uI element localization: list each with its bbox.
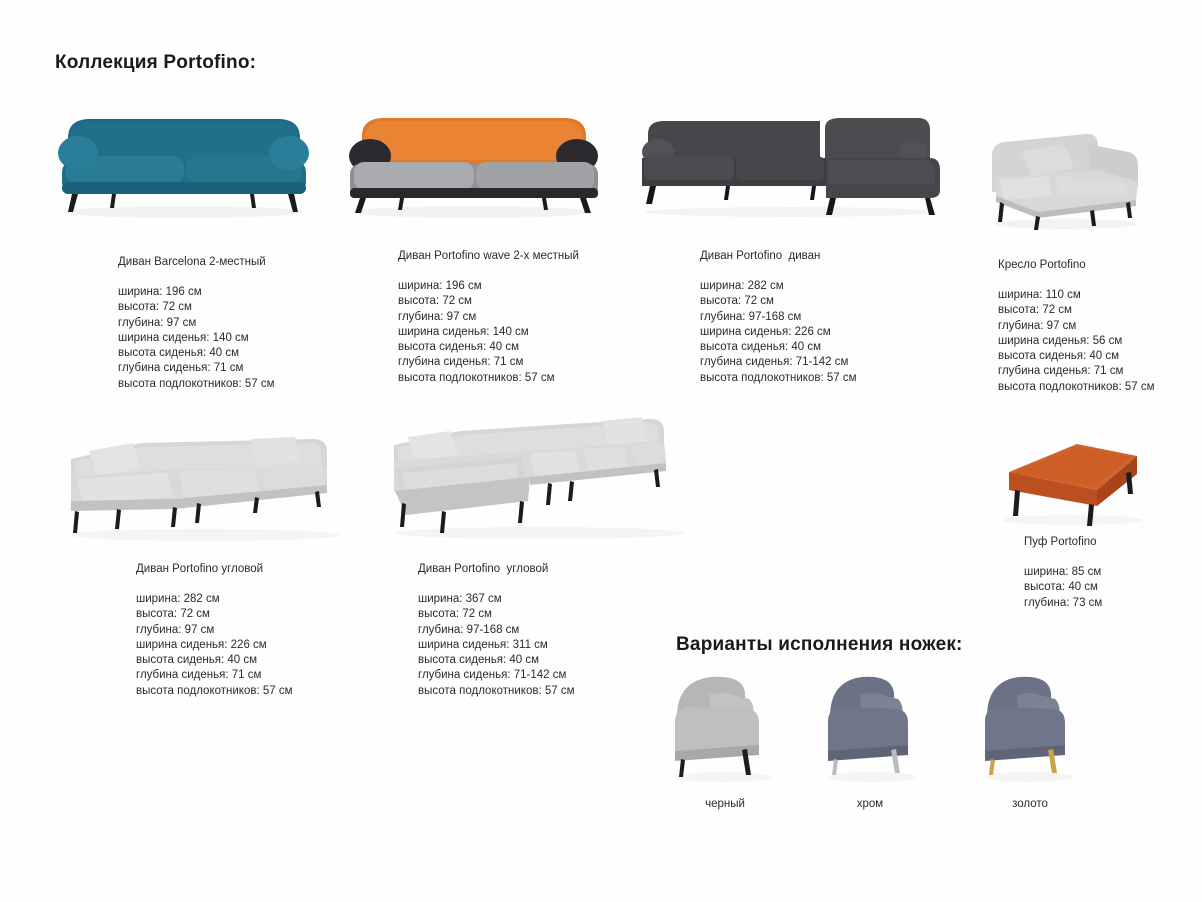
spec-item: высота сиденья: 40 см <box>136 653 416 668</box>
spec-item: глубина: 97 см <box>998 319 1198 334</box>
spec-item: высота: 72 см <box>136 607 416 622</box>
spec-item: глубина сиденья: 71-142 см <box>418 668 698 683</box>
spec-item: высота подлокотников: 57 см <box>118 377 393 392</box>
product-name: Диван Portofino угловой <box>136 562 416 576</box>
product-image-portofino-pouf <box>985 428 1160 528</box>
catalog-page: Коллекция Portofino: Диван Barcelona 2-м… <box>0 0 1202 902</box>
product-name: Диван Portofino угловой <box>418 562 698 576</box>
spec-item: глубина сиденья: 71 см <box>398 355 688 370</box>
spec-item: высота подлокотников: 57 см <box>998 380 1198 395</box>
product-image-portofino-divan <box>630 112 950 222</box>
legs-section-title: Варианты исполнения ножек: <box>676 634 963 656</box>
spec-item: глубина: 73 см <box>1024 596 1199 611</box>
spec-item: высота: 72 см <box>398 294 688 309</box>
product-block-portofino-pouf: Пуф Portofino ширина: 85 см высота: 40 с… <box>1024 535 1199 611</box>
spec-item: ширина: 196 см <box>398 279 688 294</box>
product-image-barcelona-2 <box>48 108 318 220</box>
spec-item: высота: 72 см <box>700 294 960 309</box>
product-image-portofino-wave-2 <box>338 108 608 220</box>
spec-item: высота: 72 см <box>418 607 698 622</box>
spec-list: ширина: 196 см высота: 72 см глубина: 97… <box>118 285 393 392</box>
spec-item: ширина: 85 см <box>1024 565 1199 580</box>
spec-item: высота сиденья: 40 см <box>398 340 688 355</box>
spec-item: ширина: 110 см <box>998 288 1198 303</box>
product-block-barcelona-2: Диван Barcelona 2-местный ширина: 196 см… <box>118 255 393 392</box>
spec-list: ширина: 367 см высота: 72 см глубина: 97… <box>418 592 698 699</box>
product-name: Диван Barcelona 2-местный <box>118 255 393 269</box>
spec-item: глубина сиденья: 71-142 см <box>700 355 960 370</box>
spec-list: ширина: 85 см высота: 40 см глубина: 73 … <box>1024 565 1199 611</box>
spec-item: глубина: 97 см <box>118 316 393 331</box>
product-block-portofino-divan: Диван Portofino диван ширина: 282 см выс… <box>700 249 960 386</box>
spec-item: ширина сиденья: 56 см <box>998 334 1198 349</box>
spec-item: глубина сиденья: 71 см <box>136 668 416 683</box>
spec-list: ширина: 196 см высота: 72 см глубина: 97… <box>398 279 688 386</box>
spec-item: глубина: 97-168 см <box>418 623 698 638</box>
product-block-portofino-armchair: Кресло Portofino ширина: 110 см высота: … <box>998 258 1198 395</box>
leg-variant-label-chrome: хром <box>810 798 930 810</box>
leg-variant-label-black: черный <box>665 798 785 810</box>
spec-item: глубина: 97-168 см <box>700 310 960 325</box>
product-image-portofino-corner-367 <box>380 405 700 545</box>
leg-variant-chrome <box>818 665 928 790</box>
spec-item: высота подлокотников: 57 см <box>418 684 698 699</box>
spec-list: ширина: 282 см высота: 72 см глубина: 97… <box>136 592 416 699</box>
spec-item: высота сиденья: 40 см <box>700 340 960 355</box>
spec-item: ширина: 282 см <box>136 592 416 607</box>
spec-item: ширина сиденья: 311 см <box>418 638 698 653</box>
spec-item: ширина сиденья: 226 см <box>700 325 960 340</box>
spec-item: высота сиденья: 40 см <box>118 346 393 361</box>
spec-item: ширина сиденья: 226 см <box>136 638 416 653</box>
product-image-portofino-armchair <box>978 122 1153 234</box>
product-image-portofino-corner-282 <box>55 415 355 545</box>
product-block-portofino-wave-2: Диван Portofino wave 2-х местный ширина:… <box>398 249 688 386</box>
spec-item: высота: 40 см <box>1024 580 1199 595</box>
spec-item: высота сиденья: 40 см <box>418 653 698 668</box>
spec-item: высота подлокотников: 57 см <box>136 684 416 699</box>
spec-item: глубина сиденья: 71 см <box>998 364 1198 379</box>
spec-item: ширина: 282 см <box>700 279 960 294</box>
spec-item: глубина: 97 см <box>398 310 688 325</box>
spec-item: ширина: 196 см <box>118 285 393 300</box>
spec-item: ширина сиденья: 140 см <box>398 325 688 340</box>
spec-list: ширина: 110 см высота: 72 см глубина: 97… <box>998 288 1198 395</box>
spec-item: высота: 72 см <box>998 303 1198 318</box>
spec-item: глубина: 97 см <box>136 623 416 638</box>
spec-item: высота сиденья: 40 см <box>998 349 1198 364</box>
leg-variant-label-gold: золото <box>970 798 1090 810</box>
product-name: Кресло Portofino <box>998 258 1198 272</box>
leg-variant-black <box>665 665 785 790</box>
spec-item: ширина: 367 см <box>418 592 698 607</box>
spec-list: ширина: 282 см высота: 72 см глубина: 97… <box>700 279 960 386</box>
spec-item: высота: 72 см <box>118 300 393 315</box>
product-block-portofino-corner-282: Диван Portofino угловой ширина: 282 см в… <box>136 562 416 699</box>
spec-item: высота подлокотников: 57 см <box>398 371 688 386</box>
product-block-portofino-corner-367: Диван Portofino угловой ширина: 367 см в… <box>418 562 698 699</box>
product-name: Диван Portofino диван <box>700 249 960 263</box>
product-name: Пуф Portofino <box>1024 535 1199 549</box>
page-title: Коллекция Portofino: <box>55 52 256 74</box>
spec-item: ширина сиденья: 140 см <box>118 331 393 346</box>
spec-item: высота подлокотников: 57 см <box>700 371 960 386</box>
product-name: Диван Portofino wave 2-х местный <box>398 249 688 263</box>
spec-item: глубина сиденья: 71 см <box>118 361 393 376</box>
leg-variant-gold <box>975 665 1085 790</box>
